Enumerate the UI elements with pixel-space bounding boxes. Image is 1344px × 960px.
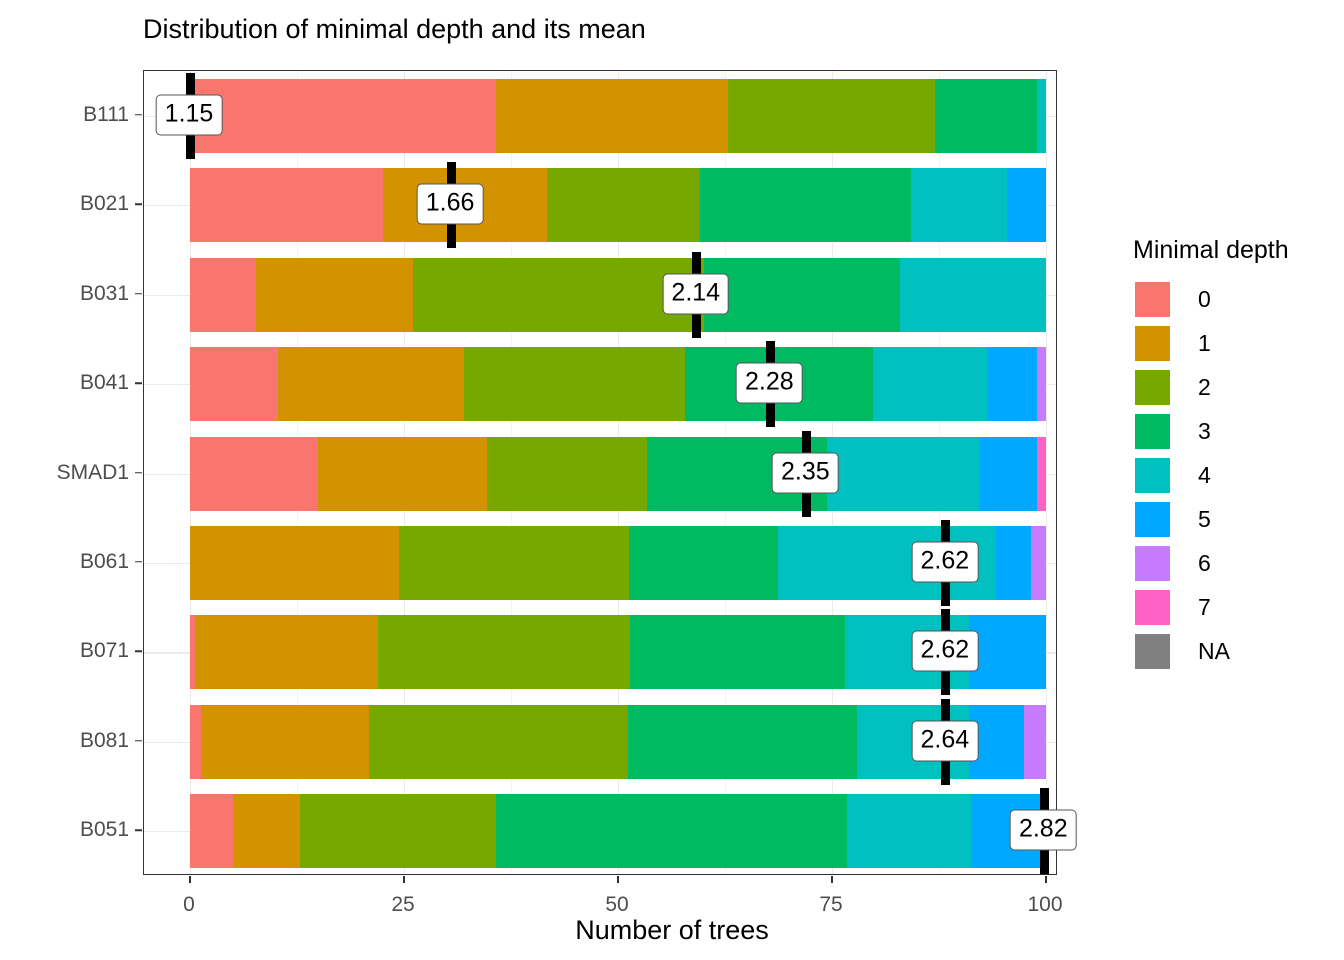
legend-item-label: 1 (1198, 330, 1211, 357)
x-tick-label: 0 (183, 893, 195, 917)
y-tick-mark (135, 382, 142, 384)
x-axis-title: Number of trees (0, 915, 1344, 946)
legend-color-swatch (1135, 634, 1170, 669)
chart-root: Distribution of minimal depth and its me… (0, 0, 1344, 960)
y-tick-label: B021 (80, 192, 129, 216)
bar-segment (190, 437, 318, 511)
bar-segment (1031, 526, 1046, 600)
y-tick-label: B071 (80, 639, 129, 663)
legend-color-swatch (1135, 590, 1170, 625)
bar-segment (278, 347, 464, 421)
bar-segment (900, 258, 1046, 332)
legend-item-label: 7 (1198, 594, 1211, 621)
y-tick-label: B041 (80, 371, 129, 395)
legend-color-swatch (1135, 458, 1170, 493)
x-tick-mark (189, 876, 191, 883)
bar-segment (547, 168, 700, 242)
legend-item[interactable]: NA (1129, 629, 1329, 673)
legend-item-label: 4 (1198, 462, 1211, 489)
legend-items: 01234567NA (1129, 277, 1329, 673)
bar-segment (399, 526, 629, 600)
legend-title: Minimal depth (1133, 236, 1329, 265)
legend-color-swatch (1135, 546, 1170, 581)
legend-item-label: 5 (1198, 506, 1211, 533)
bar-segment (233, 794, 301, 868)
bar-segment (496, 794, 848, 868)
bar-segment (413, 258, 703, 332)
bar-segment (911, 168, 1008, 242)
x-tick-label: 75 (819, 893, 842, 917)
y-tick-label: B081 (80, 729, 129, 753)
bar-segment (256, 258, 414, 332)
bar-segment (827, 437, 979, 511)
bar-stack (190, 437, 1046, 511)
mean-depth-label: 2.62 (912, 541, 979, 582)
y-tick-mark (135, 740, 142, 742)
bar-stack (190, 168, 1046, 242)
legend-item[interactable]: 2 (1129, 365, 1329, 409)
mean-depth-label: 1.66 (417, 184, 484, 225)
legend-item[interactable]: 3 (1129, 409, 1329, 453)
bar-segment (1024, 705, 1046, 779)
bar-segment (300, 794, 495, 868)
bar-stack (190, 79, 1046, 153)
bar-segment (190, 79, 496, 153)
x-tick-mark (617, 876, 619, 883)
x-tick-label: 50 (605, 893, 628, 917)
y-tick-label: SMAD1 (57, 461, 129, 485)
y-tick-mark (135, 472, 142, 474)
mean-depth-label: 1.15 (156, 94, 223, 135)
bar-segment (996, 526, 1030, 600)
legend-item[interactable]: 5 (1129, 497, 1329, 541)
y-tick-mark (135, 651, 142, 653)
x-tick-mark (403, 876, 405, 883)
bar-segment (987, 347, 1038, 421)
bar-stack (190, 347, 1046, 421)
legend-color-swatch (1135, 370, 1170, 405)
bar-segment (190, 794, 233, 868)
legend-item[interactable]: 6 (1129, 541, 1329, 585)
legend-item-label: NA (1198, 638, 1230, 665)
bar-segment (629, 526, 778, 600)
y-tick-mark (135, 114, 142, 116)
bar-segment (700, 168, 911, 242)
bar-segment (704, 258, 901, 332)
bar-segment (190, 347, 278, 421)
bar-segment (935, 79, 1038, 153)
y-tick-mark (135, 203, 142, 205)
x-tick-mark (1045, 876, 1047, 883)
legend-item[interactable]: 0 (1129, 277, 1329, 321)
legend-item-label: 6 (1198, 550, 1211, 577)
legend: Minimal depth 01234567NA (1129, 236, 1329, 673)
bar-segment (979, 437, 1037, 511)
y-tick-label: B031 (80, 282, 129, 306)
x-tick-mark (831, 876, 833, 883)
x-tick-label: 25 (391, 893, 414, 917)
bar-segment (1007, 168, 1046, 242)
bar-segment (1037, 347, 1046, 421)
legend-item-label: 3 (1198, 418, 1211, 445)
mean-depth-label: 2.35 (772, 452, 839, 493)
x-tick-label: 100 (1027, 893, 1062, 917)
bar-segment (190, 526, 399, 600)
y-tick-mark (135, 830, 142, 832)
bar-segment (201, 705, 369, 779)
bar-segment (847, 794, 970, 868)
legend-item-label: 0 (1198, 286, 1211, 313)
bar-segment (628, 705, 857, 779)
mean-depth-label: 2.64 (912, 720, 979, 761)
y-tick-label: B111 (83, 103, 129, 127)
bar-stack (190, 258, 1046, 332)
legend-color-swatch (1135, 502, 1170, 537)
legend-item[interactable]: 7 (1129, 585, 1329, 629)
bar-segment (1037, 437, 1046, 511)
mean-depth-label: 2.62 (912, 631, 979, 672)
mean-depth-label: 2.82 (1010, 810, 1077, 851)
bar-segment (487, 437, 647, 511)
bar-segment (873, 347, 987, 421)
legend-color-swatch (1135, 414, 1170, 449)
legend-item[interactable]: 4 (1129, 453, 1329, 497)
legend-color-swatch (1135, 282, 1170, 317)
bar-segment (630, 615, 845, 689)
y-tick-mark (135, 293, 142, 295)
legend-item[interactable]: 1 (1129, 321, 1329, 365)
bar-segment (369, 705, 628, 779)
y-tick-mark (135, 561, 142, 563)
legend-color-swatch (1135, 326, 1170, 361)
y-axis-title-wrap: Variable (2, 330, 42, 570)
bar-segment (728, 79, 934, 153)
bar-segment (190, 168, 383, 242)
y-tick-label: B051 (80, 818, 129, 842)
bar-segment (464, 347, 685, 421)
bar-segment (318, 437, 487, 511)
gridline-vertical (1046, 71, 1047, 874)
bar-segment (1037, 79, 1046, 153)
bar-segment (969, 615, 1046, 689)
bar-segment (190, 258, 256, 332)
legend-item-label: 2 (1198, 374, 1211, 401)
chart-title: Distribution of minimal depth and its me… (143, 14, 646, 45)
mean-depth-label: 2.14 (662, 273, 729, 314)
bar-segment (496, 79, 728, 153)
bar-segment (190, 705, 201, 779)
bar-segment (195, 615, 378, 689)
y-tick-label: B061 (80, 550, 129, 574)
bar-segment (378, 615, 630, 689)
mean-depth-label: 2.28 (736, 363, 803, 404)
bar-stack (190, 794, 1046, 868)
